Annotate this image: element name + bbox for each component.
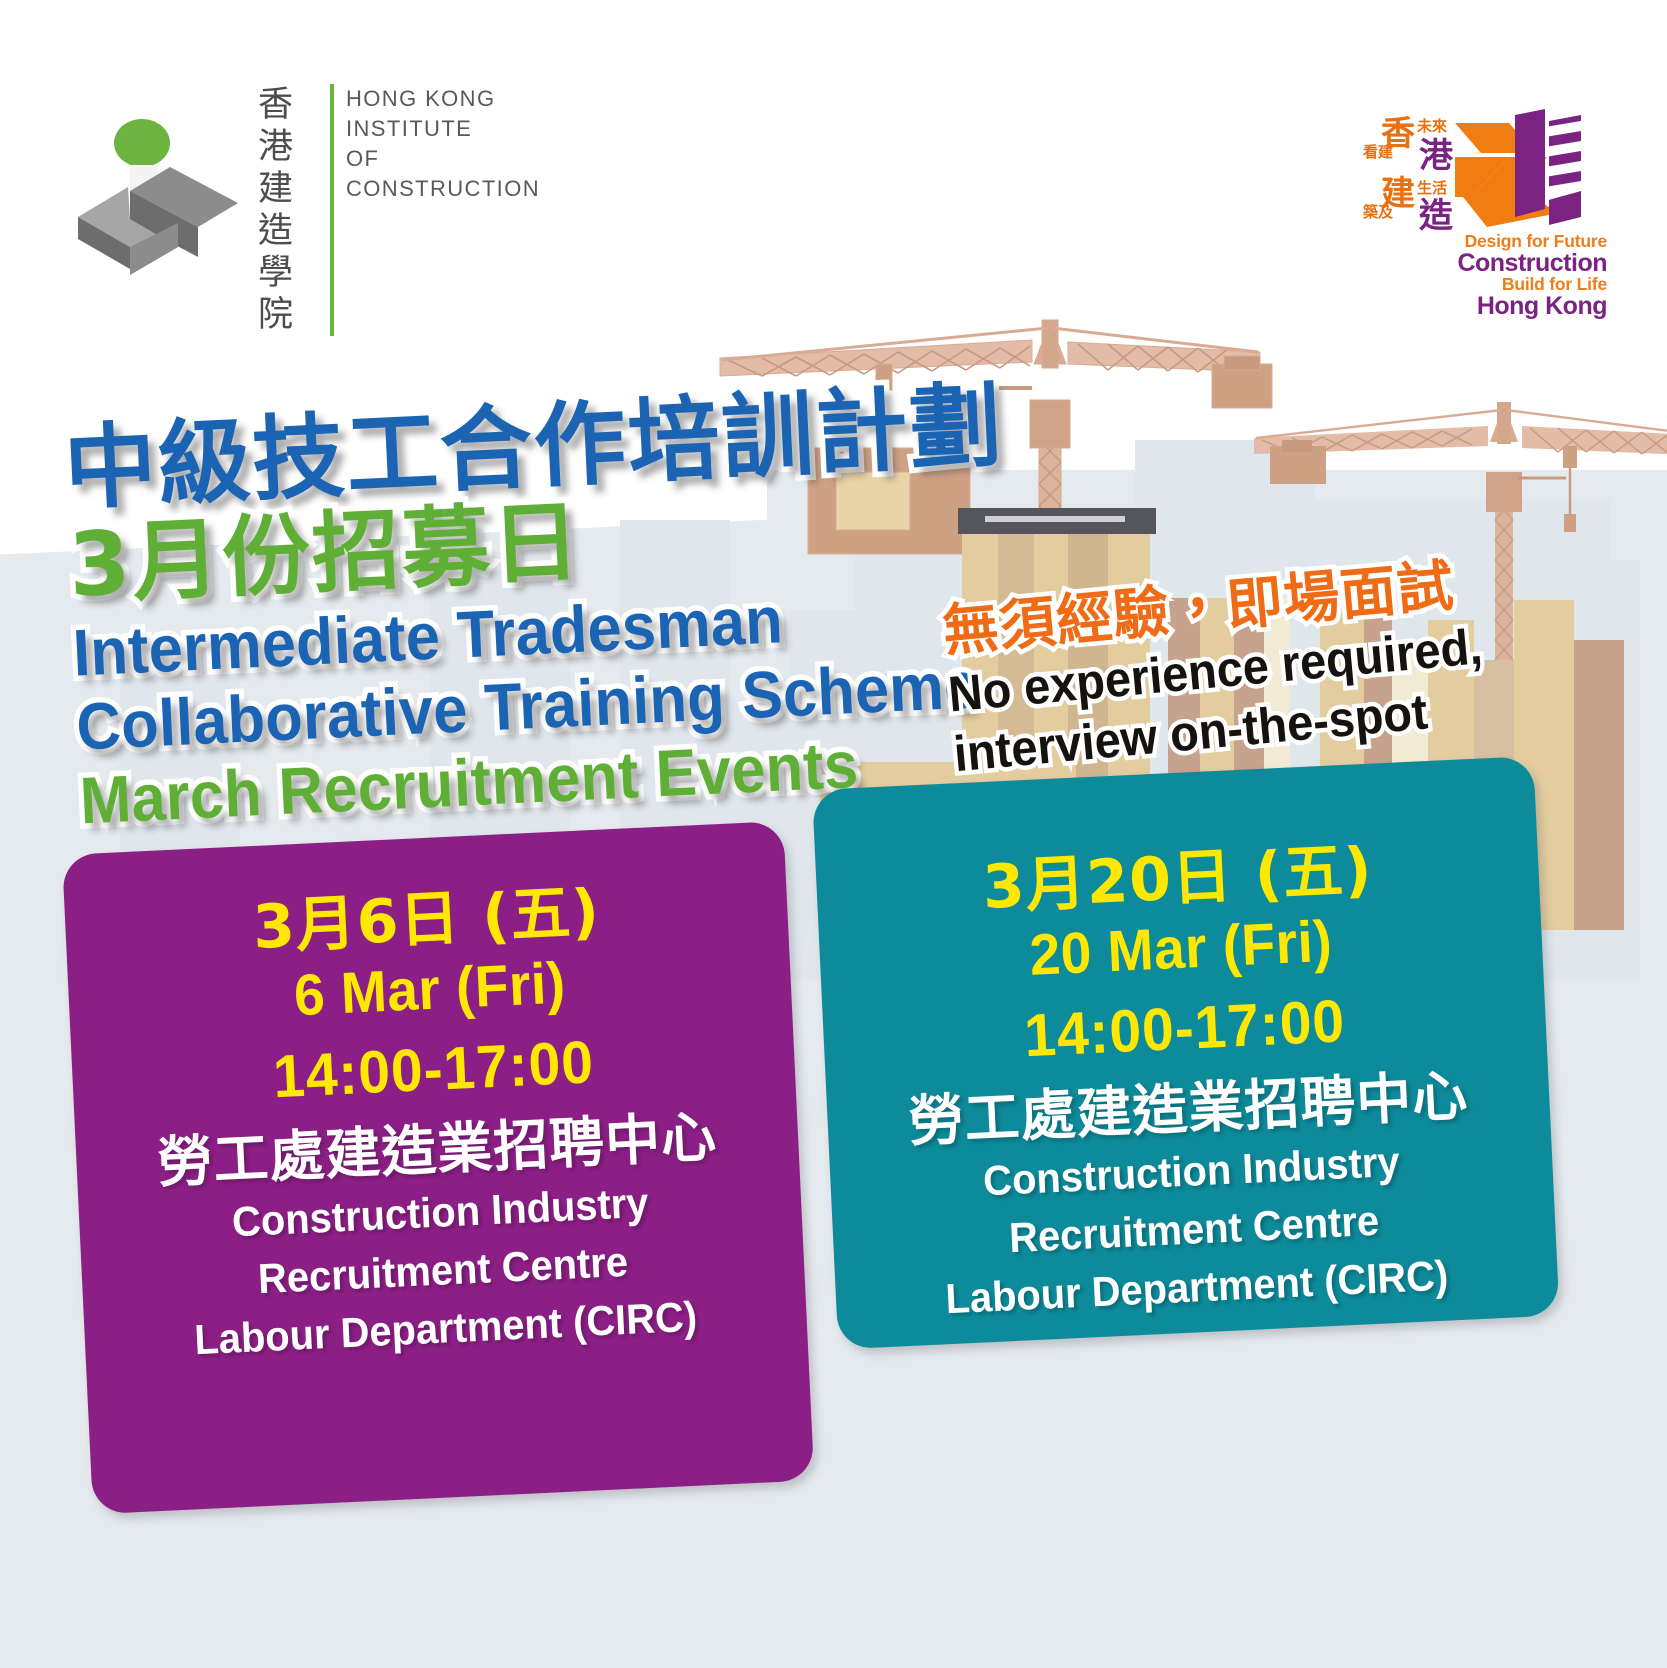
dffc-tagline-line-4: Hong Kong bbox=[1417, 294, 1607, 320]
hkic-logo-chinese: 香港 建造 學院 bbox=[258, 84, 330, 336]
hkic-en-line-3: OF bbox=[346, 144, 540, 174]
svg-text:築及: 築及 bbox=[1362, 203, 1394, 221]
svg-text:看建: 看建 bbox=[1363, 143, 1394, 161]
building-tower-17 bbox=[1574, 640, 1624, 930]
svg-text:港: 港 bbox=[1419, 136, 1454, 176]
hkic-logo-divider bbox=[330, 84, 334, 336]
hkic-logo-mark bbox=[70, 115, 240, 305]
hkic-en-line-1: HONG KONG bbox=[346, 84, 540, 114]
headline-block: 中級技工合作培訓計劃 3月份招募日 Intermediate Tradesman… bbox=[62, 372, 1051, 837]
dffc-tagline-line-2: Construction bbox=[1417, 251, 1607, 277]
hkic-en-line-4: CONSTRUCTION bbox=[346, 174, 540, 204]
event-card-6-mar[interactable]: 3月6日 (五) 6 Mar (Fri) 14:00-17:00 勞工處建造業招… bbox=[62, 821, 814, 1514]
hkic-cn-line-1: 香港 bbox=[258, 84, 318, 168]
event-card-20-mar[interactable]: 3月20日 (五) 20 Mar (Fri) 14:00-17:00 勞工處建造… bbox=[812, 756, 1560, 1349]
hkic-cn-line-2: 建造 bbox=[258, 168, 318, 252]
poster-canvas: 香港 建造 學院 HONG KONG INSTITUTE OF CONSTRUC… bbox=[0, 0, 1667, 1668]
hkic-logo: 香港 建造 學院 HONG KONG INSTITUTE OF CONSTRUC… bbox=[70, 105, 540, 315]
svg-text:未來: 未來 bbox=[1416, 117, 1447, 135]
dffc-tagline: Design for Future Construction Build for… bbox=[1417, 233, 1607, 320]
svg-text:生活: 生活 bbox=[1417, 179, 1447, 197]
logo-green-dot bbox=[114, 119, 170, 167]
design-for-future-construction-logo: 香 建 港 造 未來 看建 生活 築及 Design for Future Co… bbox=[1359, 105, 1609, 310]
hkic-logo-english: HONG KONG INSTITUTE OF CONSTRUCTION bbox=[346, 84, 540, 336]
hkic-en-line-2: INSTITUTE bbox=[346, 114, 540, 144]
svg-text:造: 造 bbox=[1418, 196, 1454, 236]
hkic-cn-line-3: 學院 bbox=[258, 252, 318, 336]
